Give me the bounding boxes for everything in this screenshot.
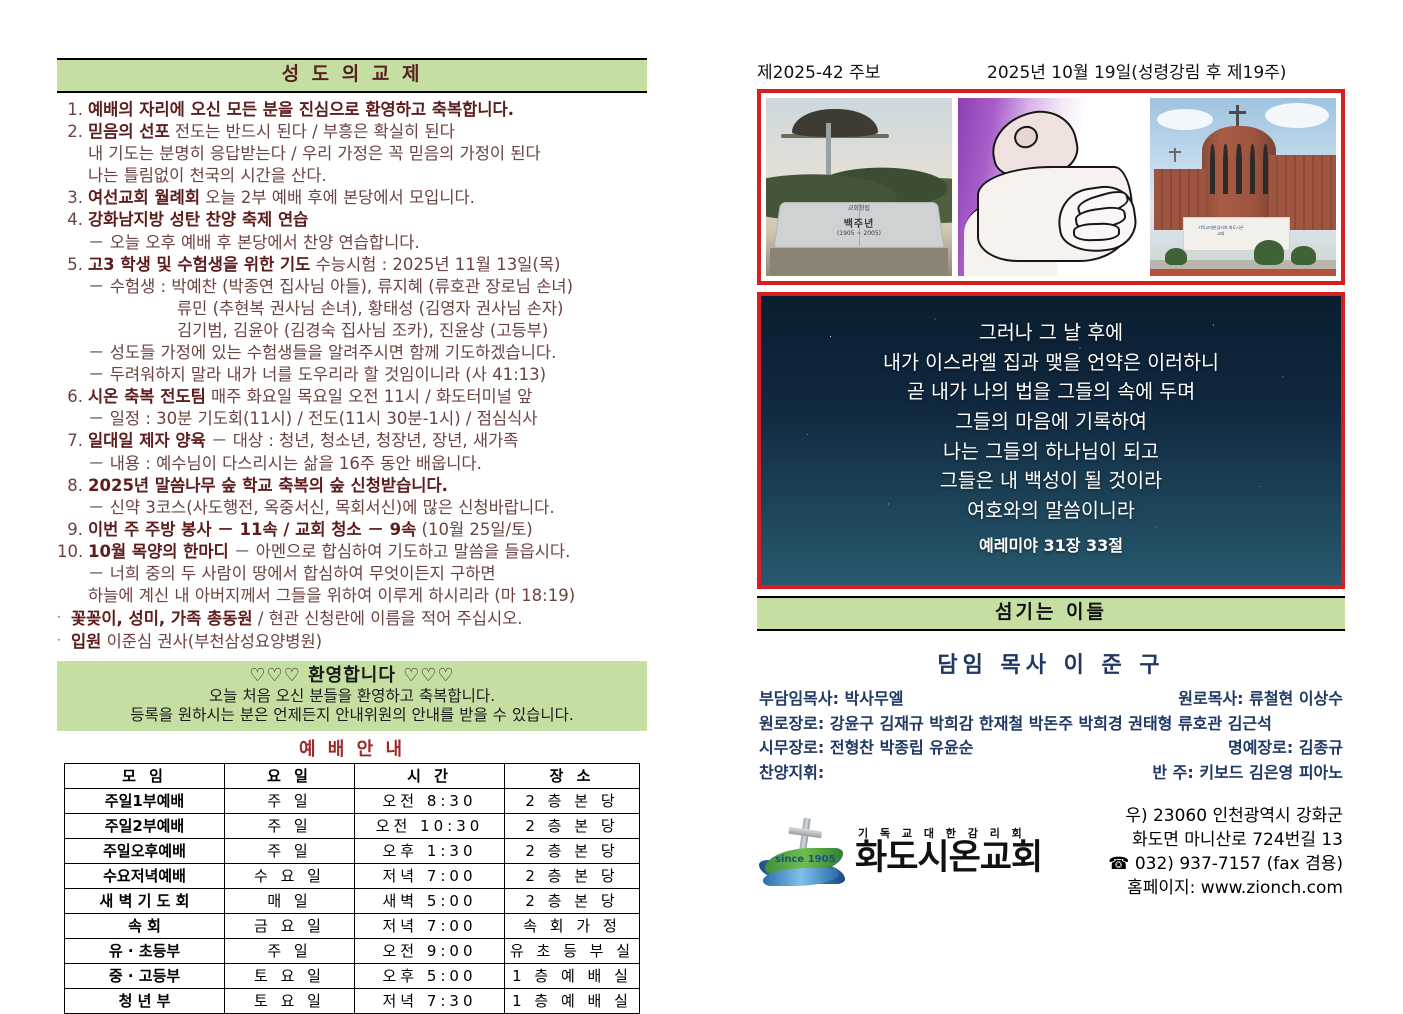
church-building-sign: 기독교대한감리회 화도시온교회	[1197, 225, 1245, 236]
table-row: 주일1부예배주 일오전 8:302 층 본 당	[65, 789, 640, 814]
photo-centennial-monument: 교회창립 백주년 (1905 ~ 2005)	[766, 98, 952, 276]
staff-right: 명예장로: 김종규	[1228, 736, 1343, 761]
staff-left: 부담임목사: 박사무엘	[759, 687, 903, 712]
notice-keyword: 예배의 자리에 오신 모든 분을 진심으로 환영하고 축복합니다.	[88, 100, 514, 119]
scripture-text: 그러나 그 날 후에내가 이스라엘 집과 맺을 언약은 이러하니곧 내가 나의 …	[761, 296, 1341, 525]
photo-praying-figure	[958, 98, 1144, 276]
notice-item: 5.고3 학생 및 수험생을 위한 기도 수능시험 : 2025년 11월 13…	[57, 254, 647, 387]
table-cell: 저녁 7:00	[355, 914, 505, 939]
notice-number: 9.	[57, 519, 88, 541]
schedule-title: 예 배 안 내	[57, 735, 647, 761]
notice-text: 믿음의 선포 전도는 반드시 된다 / 부흥은 확실히 된다	[88, 121, 647, 143]
notice-text: 고3 학생 및 수험생을 위한 기도 수능시험 : 2025년 11월 13일(…	[88, 254, 647, 276]
notice-detail: 매주 화요일 목요일 오전 11시 / 화도터미널 앞	[206, 387, 533, 406]
notice-subline: 나는 틀림없이 천국의 시간을 산다.	[88, 165, 647, 187]
notice-keyword: 시온 축복 전도팀	[88, 387, 206, 406]
table-column-header: 시 간	[355, 764, 505, 789]
notice-item: 7.일대일 제자 양육 － 대상 : 청년, 청소년, 청장년, 장년, 새가족…	[57, 430, 647, 474]
table-row: 새 벽 기 도 회매 일새벽 5:002 층 본 당	[65, 889, 640, 914]
notice-item: 10.10월 목양의 한마디 － 아멘으로 합심하여 기도하고 말씀을 들읍시다…	[57, 541, 647, 607]
table-cell: 2 층 본 당	[505, 814, 640, 839]
table-row: 주일2부예배주 일오전 10:302 층 본 당	[65, 814, 640, 839]
notice-detail: 수능시험 : 2025년 11월 13일(목)	[310, 255, 560, 274]
table-column-header: 요 일	[225, 764, 355, 789]
table-cell: 수 요 일	[225, 864, 355, 889]
staff-left: 찬양지휘:	[759, 761, 824, 786]
scripture-image: 그러나 그 날 후에내가 이스라엘 집과 맺을 언약은 이러하니곧 내가 나의 …	[757, 292, 1345, 589]
contact-website[interactable]: 홈페이지: www.zionch.com	[1067, 876, 1343, 900]
logo-since-text: since 1905	[775, 854, 836, 865]
photo-church-building: 기독교대한감리회 화도시온교회	[1150, 98, 1336, 276]
bulletin-page: 성 도 의 교 제 1.예배의 자리에 오신 모든 분을 진심으로 환영하고 축…	[0, 0, 1403, 992]
staff-section: 섬기는 이들 담임 목사 이 준 구 부담임목사: 박사무엘원로목사: 류철현 …	[757, 596, 1345, 786]
notice-text: 강화남지방 성탄 찬양 축제 연습	[88, 209, 647, 231]
church-logo: since 1905 기 독 교 대 한 감 리 회 화도시온교회	[757, 816, 1067, 888]
notice-keyword: 강화남지방 성탄 찬양 축제 연습	[88, 210, 308, 229]
notice-subline: － 내용 : 예수님이 다스리시는 삶을 16주 동안 배웁니다.	[88, 453, 647, 475]
fellowship-header: 성 도 의 교 제	[57, 58, 647, 93]
table-cell: 2 층 본 당	[505, 839, 640, 864]
notice-subline: － 너희 중의 두 사람이 땅에서 합심하여 무엇이든지 구하면	[88, 563, 647, 585]
notice-keyword: 일대일 제자 양육	[88, 431, 206, 450]
table-cell: 유 · 초등부	[65, 939, 225, 964]
table-cell: 오후 1:30	[355, 839, 505, 864]
notice-number: 1.	[57, 99, 88, 121]
notice-subline: － 오늘 오후 예배 후 본당에서 찬양 연습합니다.	[88, 232, 647, 254]
staff-line: 찬양지휘:반 주: 키보드 김은영 피아노	[757, 761, 1345, 786]
contact-info: 우) 23060 인천광역시 강화군 화도면 마니산로 724번길 13 ☎ 0…	[1067, 804, 1345, 901]
scripture-line: 그러나 그 날 후에	[761, 318, 1341, 348]
table-cell: 오후 5:00	[355, 964, 505, 989]
table-cell: 토 요 일	[225, 964, 355, 989]
staff-line: 시무장로: 전형찬 박종립 유윤순명예장로: 김종규	[757, 736, 1345, 761]
table-column-header: 모 임	[65, 764, 225, 789]
notice-item: 2.믿음의 선포 전도는 반드시 된다 / 부흥은 확실히 된다내 기도는 분명…	[57, 121, 647, 187]
table-cell: 새 벽 기 도 회	[65, 889, 225, 914]
notice-detail: (10월 25일/토)	[416, 520, 532, 539]
footer: since 1905 기 독 교 대 한 감 리 회 화도시온교회 우) 230…	[757, 804, 1345, 901]
notice-text: 여선교회 월례회 오늘 2부 예배 후에 본당에서 모입니다.	[88, 187, 647, 209]
table-cell: 매 일	[225, 889, 355, 914]
notice-keyword: 10월 목양의 한마디	[88, 542, 229, 561]
notice-subline: － 성도들 가정에 있는 수험생들을 알려주시면 함께 기도하겠습니다.	[88, 342, 647, 364]
notice-number: 2.	[57, 121, 88, 143]
notice-text: 10월 목양의 한마디 － 아멘으로 합심하여 기도하고 말씀을 들읍시다.	[88, 541, 647, 563]
notice-detail: 전도는 반드시 된다 / 부흥은 확실히 된다	[170, 122, 455, 141]
table-row: 청 년 부토 요 일저녁 7:301 층 예 배 실	[65, 989, 640, 1014]
table-cell: 새벽 5:00	[355, 889, 505, 914]
welcome-line-1: 오늘 처음 오신 분들을 환영하고 축복합니다.	[57, 687, 647, 707]
welcome-box: ♡♡♡ 환영합니다 ♡♡♡ 오늘 처음 오신 분들을 환영하고 축복합니다. 등…	[57, 661, 647, 732]
table-row: 수요저녁예배수 요 일저녁 7:002 층 본 당	[65, 864, 640, 889]
notice-keyword: 이번 주 주방 봉사 － 11속 / 교회 청소 － 9속	[88, 520, 416, 539]
monument-caption-title: 교회창립	[777, 203, 941, 212]
notice-subline: － 일정 : 30분 기도회(11시) / 전도(11시 30분-1시) / 점…	[88, 408, 647, 430]
welcome-line-2: 등록을 원하시는 분은 언제든지 안내위원의 안내를 받을 수 있습니다.	[57, 706, 647, 726]
table-cell: 주 일	[225, 839, 355, 864]
monument-caption-main: 백주년	[777, 215, 941, 230]
table-cell: 주 일	[225, 789, 355, 814]
table-cell: 1 층 예 배 실	[505, 964, 640, 989]
scripture-line: 그들의 마음에 기록하여	[761, 407, 1341, 437]
worship-schedule-table: 모 임요 일시 간장 소 주일1부예배주 일오전 8:302 층 본 당주일2부…	[64, 763, 640, 1014]
welcome-title: ♡♡♡ 환영합니다 ♡♡♡	[57, 664, 647, 687]
notice-subline: 김기범, 김윤아 (김경숙 집사님 조카), 진윤상 (고등부)	[177, 320, 647, 342]
table-row: 주일오후예배주 일오후 1:302 층 본 당	[65, 839, 640, 864]
notice-subline: － 두려워하지 말라 내가 너를 도우리라 할 것임이니라 (사 41:13)	[88, 364, 647, 386]
table-cell: 속 회	[65, 914, 225, 939]
notice-detail: － 대상 : 청년, 청소년, 청장년, 장년, 새가족	[206, 431, 519, 450]
notice-subline: 내 기도는 분명히 응답받는다 / 우리 가정은 꼭 믿음의 가정이 된다	[88, 143, 647, 165]
scripture-line: 그들은 내 백성이 될 것이라	[761, 466, 1341, 496]
bullet-keyword: 꽃꽂이, 성미, 가족 총동원	[71, 609, 253, 628]
staff-rows: 부담임목사: 박사무엘원로목사: 류철현 이상수원로장로: 강윤구 김재규 박희…	[757, 687, 1345, 786]
church-name: 화도시온교회	[855, 841, 1042, 876]
notice-text: 예배의 자리에 오신 모든 분을 진심으로 환영하고 축복합니다.	[88, 99, 647, 121]
table-cell: 오전 9:00	[355, 939, 505, 964]
notice-item: 8.2025년 말씀나무 숲 학교 축복의 숲 신청받습니다.－ 신약 3코스(…	[57, 475, 647, 519]
bullet-notes: ·꽃꽂이, 성미, 가족 총동원 / 현관 신청란에 이름을 적어 주십시오.·…	[57, 607, 647, 653]
photo-strip: 교회창립 백주년 (1905 ~ 2005)	[757, 89, 1345, 285]
notice-subline: － 신약 3코스(사도행전, 옥중서신, 목회서신)에 많은 신청바랍니다.	[88, 497, 647, 519]
notice-detail: 오늘 2부 예배 후에 본당에서 모입니다.	[200, 188, 475, 207]
cross-leaf-logo-icon: since 1905	[757, 816, 849, 888]
table-cell: 주일1부예배	[65, 789, 225, 814]
table-cell: 수요저녁예배	[65, 864, 225, 889]
senior-pastor: 담임 목사 이 준 구	[757, 631, 1345, 687]
table-cell: 토 요 일	[225, 989, 355, 1014]
table-cell: 2 층 본 당	[505, 889, 640, 914]
bullet-detail: / 현관 신청란에 이름을 적어 주십시오.	[253, 609, 523, 628]
staff-right: 원로목사: 류철현 이상수	[1178, 687, 1343, 712]
table-cell: 2 층 본 당	[505, 789, 640, 814]
bullet-note: ·꽃꽂이, 성미, 가족 총동원 / 현관 신청란에 이름을 적어 주십시오.	[57, 607, 647, 630]
contact-phone: ☎ 032) 937-7157 (fax 겸용)	[1067, 852, 1343, 876]
table-cell: 주일2부예배	[65, 814, 225, 839]
notice-number: 7.	[57, 430, 88, 452]
notice-list: 1.예배의 자리에 오신 모든 분을 진심으로 환영하고 축복합니다.2.믿음의…	[57, 99, 647, 608]
scripture-line: 여호와의 말씀이니라	[761, 496, 1341, 526]
staff-left: 시무장로: 전형찬 박종립 유윤순	[759, 736, 973, 761]
table-header-row: 모 임요 일시 간장 소	[65, 764, 640, 789]
table-cell: 2 층 본 당	[505, 864, 640, 889]
notice-number: 8.	[57, 475, 88, 497]
table-cell: 오전 8:30	[355, 789, 505, 814]
notice-number: 5.	[57, 254, 88, 276]
staff-line: 원로장로: 강윤구 김재규 박희감 한재철 박돈주 박희경 권태형 류호관 김근…	[757, 712, 1345, 737]
left-column: 성 도 의 교 제 1.예배의 자리에 오신 모든 분을 진심으로 환영하고 축…	[57, 58, 647, 1014]
staff-header: 섬기는 이들	[757, 596, 1345, 631]
table-cell: 오전 10:30	[355, 814, 505, 839]
notice-text: 2025년 말씀나무 숲 학교 축복의 숲 신청받습니다.	[88, 475, 647, 497]
notice-item: 1.예배의 자리에 오신 모든 분을 진심으로 환영하고 축복합니다.	[57, 99, 647, 121]
contact-address-1: 우) 23060 인천광역시 강화군	[1067, 804, 1343, 828]
notice-number: 4.	[57, 209, 88, 231]
notice-keyword: 믿음의 선포	[88, 122, 170, 141]
table-row: 속 회금 요 일저녁 7:00속 회 가 정	[65, 914, 640, 939]
table-cell: 1 층 예 배 실	[505, 989, 640, 1014]
notice-text: 일대일 제자 양육 － 대상 : 청년, 청소년, 청장년, 장년, 새가족	[88, 430, 647, 452]
notice-subline: － 수험생 : 박예찬 (박종연 집사님 아들), 류지혜 (류호관 장로님 손…	[88, 276, 647, 298]
table-cell: 금 요 일	[225, 914, 355, 939]
bullet-keyword: 입원	[71, 632, 101, 651]
table-cell: 주 일	[225, 814, 355, 839]
table-cell: 주 일	[225, 939, 355, 964]
bullet-dot-icon: ·	[57, 607, 71, 629]
table-cell: 유 초 등 부 실	[505, 939, 640, 964]
table-cell: 중 · 고등부	[65, 964, 225, 989]
table-cell: 청 년 부	[65, 989, 225, 1014]
staff-right: 반 주: 키보드 김은영 피아노	[1152, 761, 1343, 786]
notice-keyword: 고3 학생 및 수험생을 위한 기도	[88, 255, 310, 274]
table-column-header: 장 소	[505, 764, 640, 789]
table-cell: 저녁 7:30	[355, 989, 505, 1014]
table-cell: 주일오후예배	[65, 839, 225, 864]
notice-detail: － 아멘으로 합심하여 기도하고 말씀을 들읍시다.	[229, 542, 571, 561]
notice-number: 6.	[57, 386, 88, 408]
bulletin-header: 제2025-42 주보 2025년 10월 19일(성령강림 후 제19주)	[757, 58, 1345, 89]
notice-keyword: 여선교회 월례회	[88, 188, 200, 207]
scripture-reference: 예레미야 31장 33절	[761, 532, 1341, 556]
notice-text: 시온 축복 전도팀 매주 화요일 목요일 오전 11시 / 화도터미널 앞	[88, 386, 647, 408]
table-cell: 속 회 가 정	[505, 914, 640, 939]
notice-item: 3.여선교회 월례회 오늘 2부 예배 후에 본당에서 모입니다.	[57, 187, 647, 209]
monument-caption-years: (1905 ~ 2005)	[777, 230, 941, 237]
notice-item: 9.이번 주 주방 봉사 － 11속 / 교회 청소 － 9속 (10월 25일…	[57, 519, 647, 541]
bullet-note: ·입원 이준심 권사(부천삼성요양병원)	[57, 630, 647, 653]
scripture-line: 곧 내가 나의 법을 그들의 속에 두며	[761, 377, 1341, 407]
notice-number: 3.	[57, 187, 88, 209]
notice-subline: 하늘에 계신 내 아버지께서 그들을 위하여 이루게 하시리라 (마 18:19…	[88, 585, 647, 607]
notice-text: 이번 주 주방 봉사 － 11속 / 교회 청소 － 9속 (10월 25일/토…	[88, 519, 647, 541]
scripture-line: 내가 이스라엘 집과 맺을 언약은 이러하니	[761, 348, 1341, 378]
bulletin-date: 2025년 10월 19일(성령강림 후 제19주)	[987, 58, 1345, 83]
contact-address-2: 화도면 마니산로 724번길 13	[1067, 828, 1343, 852]
right-column: 제2025-42 주보 2025년 10월 19일(성령강림 후 제19주) 교…	[757, 58, 1345, 901]
table-row: 중 · 고등부토 요 일오후 5:001 층 예 배 실	[65, 964, 640, 989]
bullet-dot-icon: ·	[57, 630, 71, 652]
bulletin-number: 제2025-42 주보	[757, 58, 987, 83]
notice-item: 4.강화남지방 성탄 찬양 축제 연습－ 오늘 오후 예배 후 본당에서 찬양 …	[57, 209, 647, 253]
notice-number: 10.	[57, 541, 88, 563]
bullet-detail: 이준심 권사(부천삼성요양병원)	[101, 632, 322, 651]
notice-subline: 류민 (추현복 권사님 손녀), 황태성 (김영자 권사님 손자)	[177, 298, 647, 320]
table-row: 유 · 초등부주 일오전 9:00유 초 등 부 실	[65, 939, 640, 964]
scripture-line: 나는 그들의 하나님이 되고	[761, 437, 1341, 467]
staff-line: 부담임목사: 박사무엘원로목사: 류철현 이상수	[757, 687, 1345, 712]
notice-item: 6.시온 축복 전도팀 매주 화요일 목요일 오전 11시 / 화도터미널 앞－…	[57, 386, 647, 430]
notice-keyword: 2025년 말씀나무 숲 학교 축복의 숲 신청받습니다.	[88, 476, 448, 495]
table-cell: 저녁 7:00	[355, 864, 505, 889]
